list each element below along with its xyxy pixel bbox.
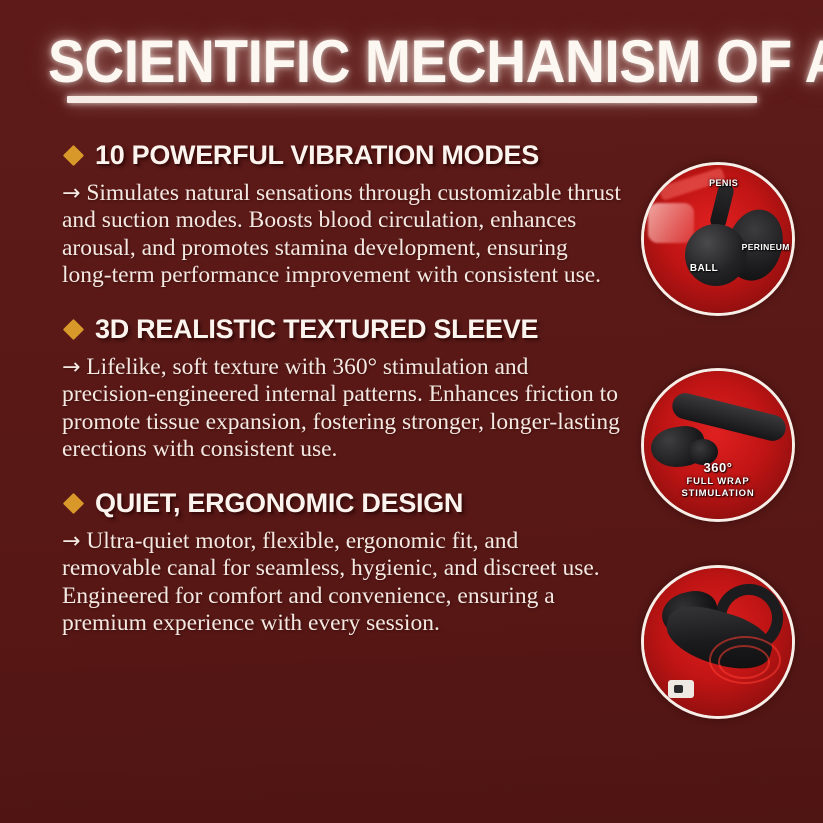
photo1-caption-top: PENIS xyxy=(709,178,738,188)
product-photo-3 xyxy=(641,565,795,719)
arrow-icon: → xyxy=(62,181,80,206)
feature-body-text-1: Simulates natural sensations through cus… xyxy=(62,180,621,288)
feature-body-2: → Lifelike, soft texture with 360° stimu… xyxy=(62,354,622,464)
content-area: 10 POWERFUL VIBRATION MODES → Simulates … xyxy=(0,140,823,800)
feature-body-1: → Simulates natural sensations through c… xyxy=(62,180,622,290)
poster-root: SCIENTIFIC MECHANISM OF ACTION 10 POWERF… xyxy=(0,0,823,823)
product-photo-3-image xyxy=(644,568,792,716)
photo3-vibration-wave xyxy=(709,636,781,684)
product-photo-column: PENIS PERINEUM BALL 360° FULL WRAP STIMU… xyxy=(637,140,797,800)
photo1-neck-shape xyxy=(708,181,735,230)
feature-title-1: 10 POWERFUL VIBRATION MODES xyxy=(95,140,539,171)
photo2-caption-line1: FULL WRAP xyxy=(644,476,792,487)
diamond-bullet-icon xyxy=(63,145,84,166)
photo2-caption-line2: STIMULATION xyxy=(644,488,792,499)
photo1-highlight xyxy=(648,203,694,243)
photo2-caption-degrees: 360° xyxy=(644,460,792,475)
diamond-bullet-icon xyxy=(63,493,84,514)
photo3-charger-icon xyxy=(668,680,694,698)
feature-heading-row-1: 10 POWERFUL VIBRATION MODES xyxy=(66,140,622,171)
photo2-caption-block: 360° FULL WRAP STIMULATION xyxy=(644,460,792,499)
feature-section-1: 10 POWERFUL VIBRATION MODES → Simulates … xyxy=(62,140,622,290)
page-title: SCIENTIFIC MECHANISM OF ACTION xyxy=(42,32,823,92)
diamond-bullet-icon xyxy=(63,319,84,340)
arrow-icon: → xyxy=(62,355,80,380)
title-underline xyxy=(67,96,757,103)
feature-section-3: QUIET, ERGONOMIC DESIGN → Ultra-quiet mo… xyxy=(62,488,622,638)
arrow-icon: → xyxy=(62,529,80,554)
feature-body-3: → Ultra-quiet motor, flexible, ergonomic… xyxy=(62,528,622,638)
feature-heading-row-3: QUIET, ERGONOMIC DESIGN xyxy=(66,488,622,519)
feature-list: 10 POWERFUL VIBRATION MODES → Simulates … xyxy=(62,140,622,638)
product-photo-1: PENIS PERINEUM BALL xyxy=(641,162,795,316)
feature-title-3: QUIET, ERGONOMIC DESIGN xyxy=(95,488,463,519)
feature-body-text-3: Ultra-quiet motor, flexible, ergonomic f… xyxy=(62,528,600,636)
product-photo-2: 360° FULL WRAP STIMULATION xyxy=(641,368,795,522)
photo1-caption-bottom: BALL xyxy=(690,263,718,274)
feature-section-2: 3D REALISTIC TEXTURED SLEEVE → Lifelike,… xyxy=(62,314,622,464)
feature-heading-row-2: 3D REALISTIC TEXTURED SLEEVE xyxy=(66,314,622,345)
poster-header: SCIENTIFIC MECHANISM OF ACTION xyxy=(0,32,823,103)
photo1-caption-right: PERINEUM xyxy=(742,242,790,252)
feature-title-2: 3D REALISTIC TEXTURED SLEEVE xyxy=(95,314,538,345)
feature-body-text-2: Lifelike, soft texture with 360° stimula… xyxy=(62,354,620,462)
